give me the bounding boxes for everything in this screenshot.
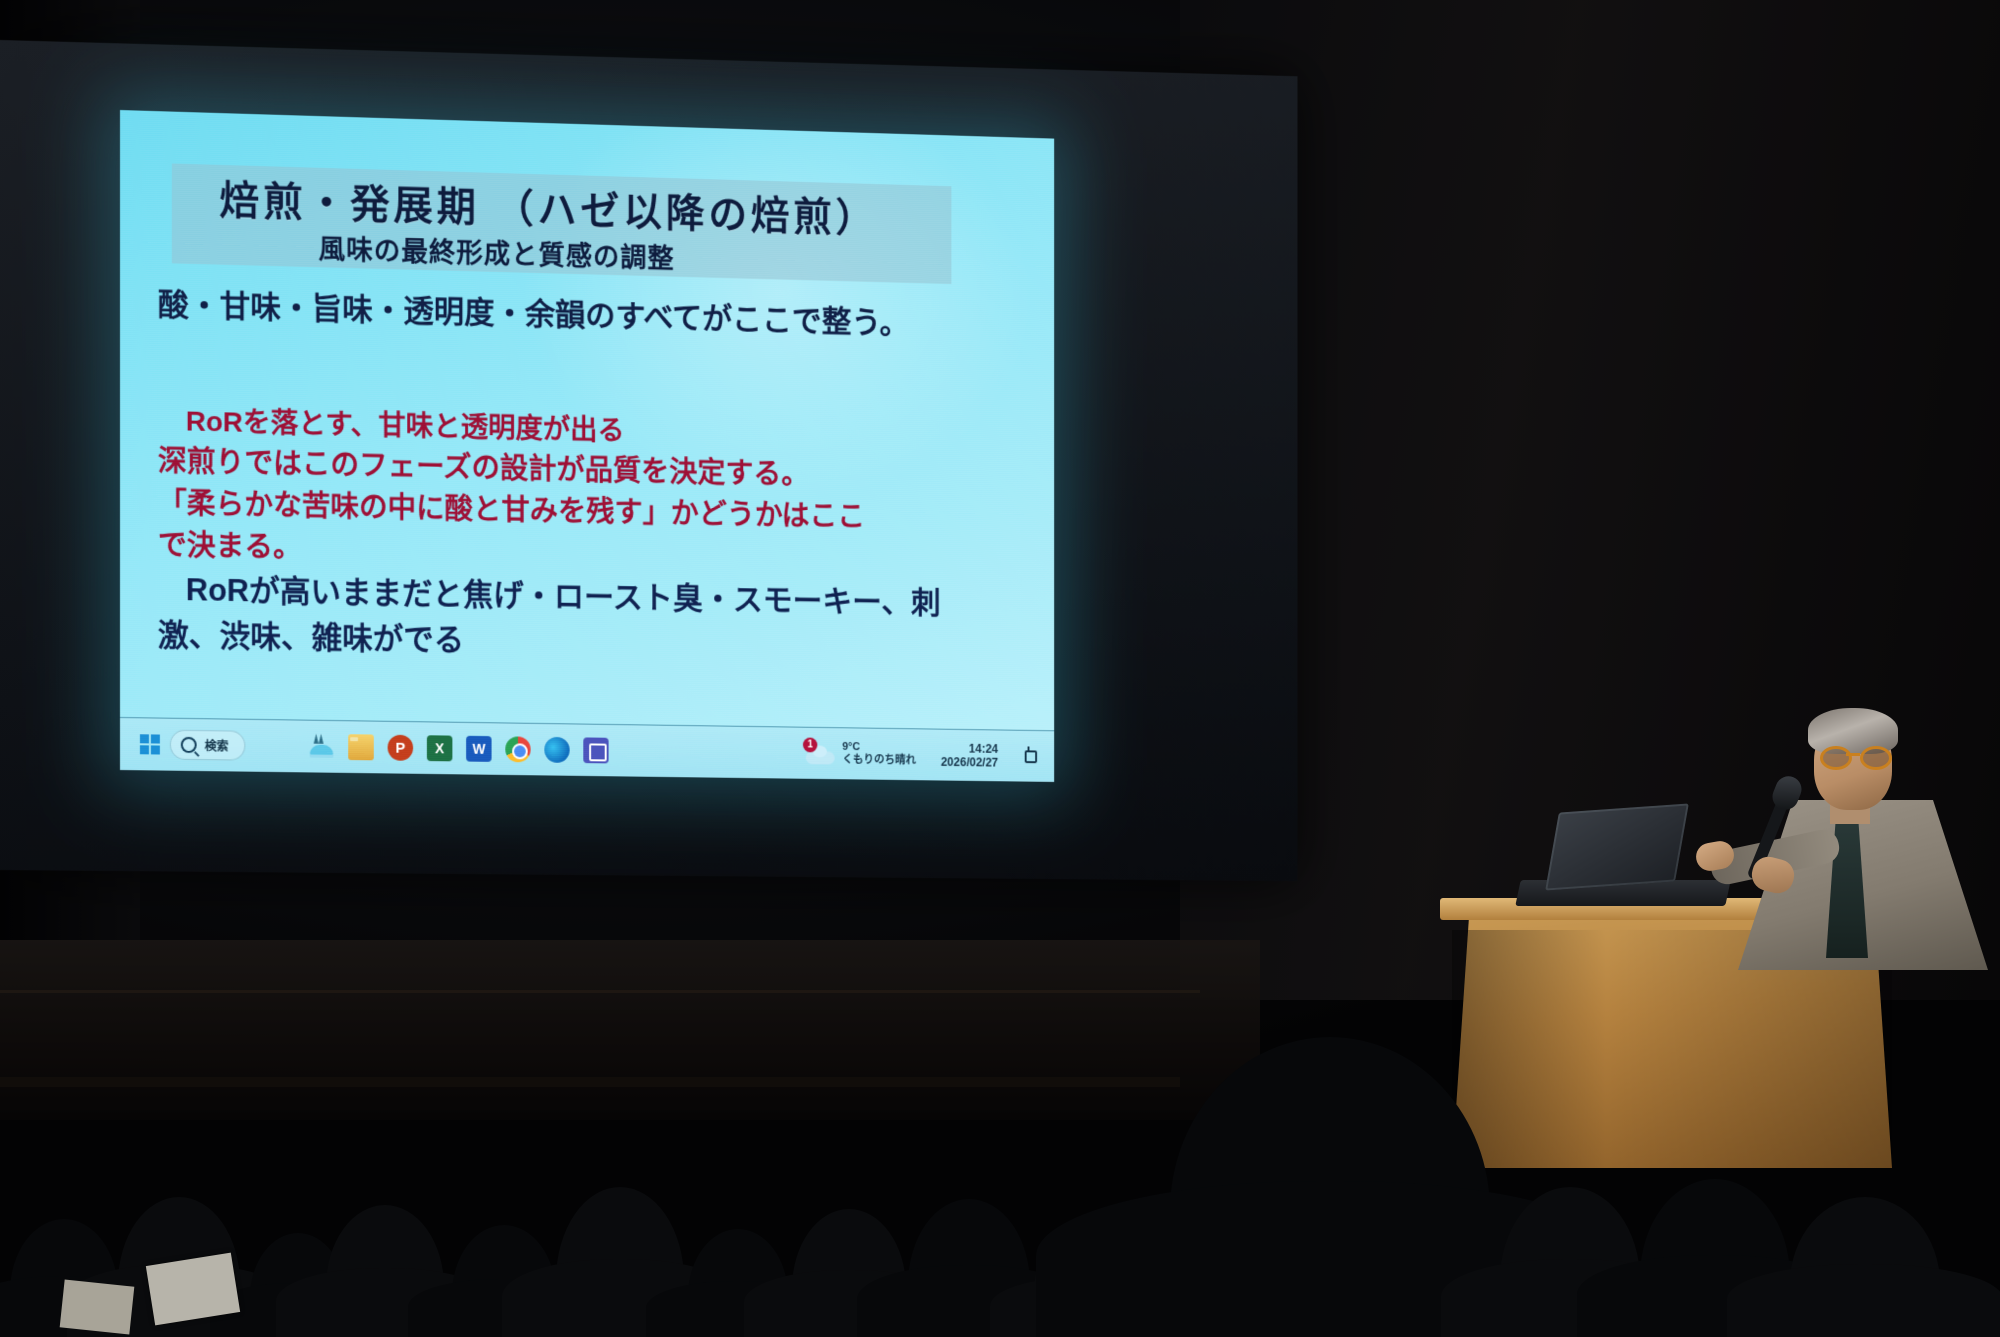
weather-widget[interactable]: 1 9°C くもりのち晴れ — [806, 740, 916, 767]
clock-time: 14:24 — [941, 741, 998, 755]
file-explorer-icon[interactable] — [348, 734, 374, 760]
excel-icon[interactable] — [427, 735, 453, 761]
search-icon — [181, 737, 197, 753]
edge-icon[interactable] — [544, 737, 569, 763]
taskbar-app-icons — [309, 734, 609, 764]
stage-floor — [0, 940, 1260, 1120]
slide-lead-text: 酸・甘味・旨味・透明度・余韻のすべてがここで整う。 — [158, 279, 1052, 346]
clock-date: 2026/02/27 — [941, 755, 998, 769]
search-input[interactable]: 検索 — [170, 730, 246, 761]
presenter — [1690, 690, 2000, 960]
auditorium-scene: 焙煎・発展期 （ハゼ以降の焙煎） 風味の最終形成と質感の調整 酸・甘味・旨味・透… — [0, 0, 2000, 1337]
stage-rail — [0, 1077, 1180, 1087]
taskbar-system-tray: 1 9°C くもりのち晴れ 14:24 2026/02/27 — [806, 740, 1054, 771]
eyeglasses-icon — [1818, 746, 1890, 764]
powerpoint-icon[interactable] — [388, 735, 414, 761]
search-placeholder: 検索 — [205, 737, 229, 754]
projection-screen: 焙煎・発展期 （ハゼ以降の焙煎） 風味の最終形成と質感の調整 酸・甘味・旨味・透… — [120, 110, 1054, 782]
slide-body: RoRを落とす、甘味と透明度が出る 深煎りではこのフェーズの設計が品質を決定する… — [150, 401, 1054, 673]
floor-edge-line — [0, 990, 1200, 993]
notification-badge: 1 — [803, 738, 817, 753]
cloud-icon: 1 — [806, 742, 835, 764]
input-method-icon[interactable] — [1023, 748, 1039, 765]
chrome-icon[interactable] — [505, 736, 530, 762]
weather-condition: くもりのち晴れ — [842, 754, 916, 768]
teams-icon[interactable] — [583, 737, 608, 763]
weather-text: 9°C くもりのち晴れ — [842, 741, 916, 767]
weather-temperature: 9°C — [842, 741, 916, 755]
taskbar-clock[interactable]: 14:24 2026/02/27 — [941, 741, 998, 769]
copilot-icon[interactable] — [309, 734, 335, 760]
presenter-laptop-screen — [1545, 803, 1689, 890]
windows-logo-icon[interactable] — [140, 734, 160, 754]
taskbar-left-group: 検索 — [120, 729, 245, 761]
presentation-slide: 焙煎・発展期 （ハゼ以降の焙煎） 風味の最終形成と質感の調整 酸・甘味・旨味・透… — [120, 110, 1054, 782]
word-icon[interactable] — [466, 736, 491, 762]
